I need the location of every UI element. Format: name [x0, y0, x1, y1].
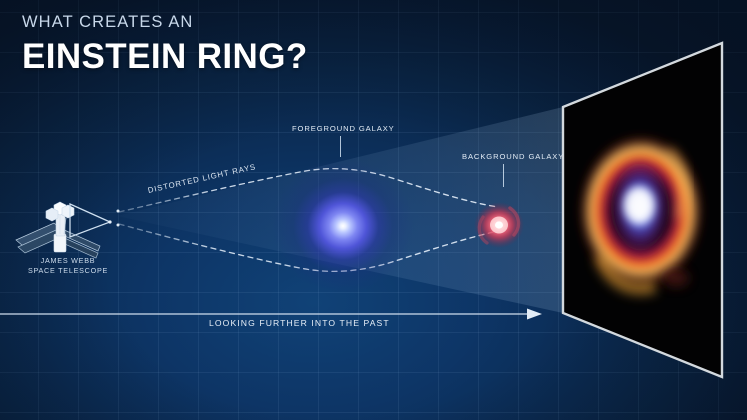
- infographic-canvas: WHAT CREATES AN EINSTEIN RING?: [0, 0, 747, 420]
- einstein-ring-image: [577, 133, 705, 289]
- james-webb-space-telescope-icon: [14, 196, 122, 262]
- telescope-label-line1: JAMES WEBB: [8, 256, 128, 266]
- background-galaxy-leader-line: [503, 164, 504, 187]
- title-kicker: WHAT CREATES AN: [22, 14, 308, 31]
- einstein-ring-panel: [540, 30, 747, 400]
- telescope-label: JAMES WEBB SPACE TELESCOPE: [8, 256, 128, 276]
- foreground-galaxy-leader-line: [340, 136, 341, 157]
- title-block: WHAT CREATES AN EINSTEIN RING?: [22, 14, 308, 74]
- background-galaxy-label: BACKGROUND GALAXY: [462, 152, 564, 161]
- right-arrow-icon: [527, 309, 542, 320]
- page-title: EINSTEIN RING?: [22, 39, 308, 74]
- background-galaxy: [466, 192, 532, 258]
- telescope-label-line2: SPACE TELESCOPE: [8, 266, 128, 276]
- timeline-arrow-label: LOOKING FURTHER INTO THE PAST: [209, 318, 390, 328]
- foreground-galaxy: [272, 158, 414, 294]
- foreground-galaxy-glow: [272, 158, 414, 294]
- foreground-galaxy-label: FOREGROUND GALAXY: [292, 124, 395, 133]
